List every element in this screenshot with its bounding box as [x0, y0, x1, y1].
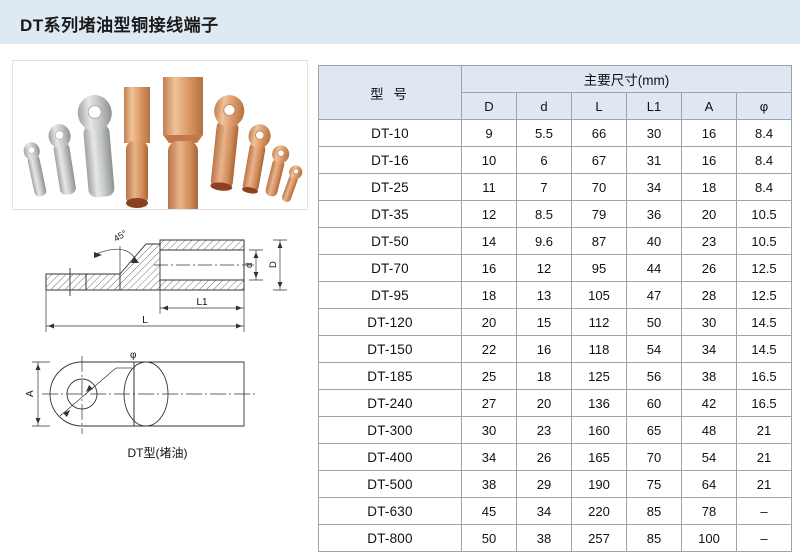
- table-row: DT-1202015112503014.5: [319, 309, 792, 336]
- lug-copper-flat-2: [163, 77, 203, 209]
- cell-L: 257: [572, 525, 627, 552]
- cell-D: 9: [462, 120, 517, 147]
- cell-L1: 85: [627, 498, 682, 525]
- cell-d: 15: [517, 309, 572, 336]
- cell-A: 48: [682, 417, 737, 444]
- cell-L1: 70: [627, 444, 682, 471]
- cell-phi: 10.5: [737, 228, 792, 255]
- cell-L: 67: [572, 147, 627, 174]
- cell-model: DT-10: [319, 120, 462, 147]
- cell-model: DT-150: [319, 336, 462, 363]
- header-col-L: L: [572, 93, 627, 120]
- cell-A: 20: [682, 201, 737, 228]
- table-row: DT-161066731168.4: [319, 147, 792, 174]
- lug-copper-flat-1: [124, 87, 150, 208]
- left-pane: 45° d D L1: [0, 44, 315, 512]
- cell-model: DT-400: [319, 444, 462, 471]
- table-row: DT-70161295442612.5: [319, 255, 792, 282]
- cell-D: 25: [462, 363, 517, 390]
- cell-d: 26: [517, 444, 572, 471]
- page-title-bar: DT系列堵油型铜接线端子: [0, 0, 800, 44]
- cell-model: DT-120: [319, 309, 462, 336]
- phi-label: φ: [130, 350, 137, 361]
- cell-D: 12: [462, 201, 517, 228]
- cell-D: 16: [462, 255, 517, 282]
- cell-L1: 65: [627, 417, 682, 444]
- header-col-D: D: [462, 93, 517, 120]
- cell-phi: 16.5: [737, 363, 792, 390]
- cell-D: 10: [462, 147, 517, 174]
- cell-A: 64: [682, 471, 737, 498]
- cell-d: 29: [517, 471, 572, 498]
- cell-phi: 12.5: [737, 255, 792, 282]
- cell-A: 18: [682, 174, 737, 201]
- cell-D: 20: [462, 309, 517, 336]
- cell-model: DT-16: [319, 147, 462, 174]
- cell-L: 95: [572, 255, 627, 282]
- header-col-L1: L1: [627, 93, 682, 120]
- cell-L: 112: [572, 309, 627, 336]
- cell-L: 118: [572, 336, 627, 363]
- cell-d: 16: [517, 336, 572, 363]
- cell-d: 34: [517, 498, 572, 525]
- cell-phi: 12.5: [737, 282, 792, 309]
- cell-d: 12: [517, 255, 572, 282]
- cell-L: 125: [572, 363, 627, 390]
- cell-L1: 75: [627, 471, 682, 498]
- cell-A: 54: [682, 444, 737, 471]
- cell-d: 9.6: [517, 228, 572, 255]
- cell-d: 8.5: [517, 201, 572, 228]
- cell-L1: 60: [627, 390, 682, 417]
- cell-L1: 50: [627, 309, 682, 336]
- cell-model: DT-500: [319, 471, 462, 498]
- cell-D: 27: [462, 390, 517, 417]
- cell-phi: 14.5: [737, 309, 792, 336]
- cell-D: 18: [462, 282, 517, 309]
- table-row: DT-951813105472812.5: [319, 282, 792, 309]
- table-row: DT-1502216118543414.5: [319, 336, 792, 363]
- table-row: DT-5003829190756421: [319, 471, 792, 498]
- cell-L1: 56: [627, 363, 682, 390]
- angle-label: 45°: [112, 228, 129, 244]
- cell-L: 70: [572, 174, 627, 201]
- spec-table-head: 型 号 主要尺寸(mm) D d L L1 A φ: [319, 66, 792, 120]
- dim-A-label: A: [25, 390, 36, 397]
- cell-L: 165: [572, 444, 627, 471]
- cell-L: 87: [572, 228, 627, 255]
- dim-L-label: L: [142, 315, 148, 326]
- header-col-A: A: [682, 93, 737, 120]
- dim-d-label: d: [244, 263, 255, 268]
- cell-A: 16: [682, 120, 737, 147]
- table-row: DT-1852518125563816.5: [319, 363, 792, 390]
- section-view-drawing: 45° d D L1: [8, 226, 308, 338]
- cell-model: DT-800: [319, 525, 462, 552]
- header-dimension-group: 主要尺寸(mm): [462, 66, 792, 93]
- spec-table-body: DT-1095.56630168.4DT-161066731168.4DT-25…: [319, 120, 792, 552]
- cell-A: 34: [682, 336, 737, 363]
- cell-L1: 44: [627, 255, 682, 282]
- cell-L: 79: [572, 201, 627, 228]
- header-row-top: 型 号 主要尺寸(mm): [319, 66, 792, 93]
- table-row: DT-63045342208578–: [319, 498, 792, 525]
- cell-L1: 30: [627, 120, 682, 147]
- product-photo-image: [13, 61, 307, 209]
- cell-model: DT-35: [319, 201, 462, 228]
- cell-D: 30: [462, 417, 517, 444]
- cell-L1: 54: [627, 336, 682, 363]
- cell-L: 105: [572, 282, 627, 309]
- cell-A: 42: [682, 390, 737, 417]
- table-row: DT-4003426165705421: [319, 444, 792, 471]
- cell-model: DT-300: [319, 417, 462, 444]
- cell-model: DT-25: [319, 174, 462, 201]
- cell-D: 38: [462, 471, 517, 498]
- table-row: DT-1095.56630168.4: [319, 120, 792, 147]
- cell-D: 50: [462, 525, 517, 552]
- cell-model: DT-50: [319, 228, 462, 255]
- cell-model: DT-240: [319, 390, 462, 417]
- cell-d: 6: [517, 147, 572, 174]
- cell-A: 100: [682, 525, 737, 552]
- table-row: DT-3003023160654821: [319, 417, 792, 444]
- cell-phi: 16.5: [737, 390, 792, 417]
- cell-d: 7: [517, 174, 572, 201]
- cell-model: DT-95: [319, 282, 462, 309]
- page-title: DT系列堵油型铜接线端子: [20, 11, 219, 36]
- cell-model: DT-630: [319, 498, 462, 525]
- cell-phi: 10.5: [737, 201, 792, 228]
- header-model: 型 号: [319, 66, 462, 120]
- cell-d: 5.5: [517, 120, 572, 147]
- cell-D: 34: [462, 444, 517, 471]
- dim-L1-label: L1: [196, 297, 208, 308]
- cell-L: 136: [572, 390, 627, 417]
- spec-table: 型 号 主要尺寸(mm) D d L L1 A φ DT-1095.566301…: [318, 65, 792, 552]
- cell-L1: 34: [627, 174, 682, 201]
- table-row: DT-2402720136604216.5: [319, 390, 792, 417]
- cell-phi: 8.4: [737, 120, 792, 147]
- drawing-caption: DT型(堵油): [0, 444, 315, 461]
- table-row: DT-251177034188.4: [319, 174, 792, 201]
- product-photo: [12, 60, 308, 210]
- cell-A: 78: [682, 498, 737, 525]
- cell-d: 20: [517, 390, 572, 417]
- table-row: DT-50149.687402310.5: [319, 228, 792, 255]
- cell-L1: 47: [627, 282, 682, 309]
- cell-model: DT-70: [319, 255, 462, 282]
- header-col-phi: φ: [737, 93, 792, 120]
- cell-D: 14: [462, 228, 517, 255]
- cell-d: 38: [517, 525, 572, 552]
- cell-L1: 85: [627, 525, 682, 552]
- cell-L: 66: [572, 120, 627, 147]
- cell-L: 190: [572, 471, 627, 498]
- cell-phi: 21: [737, 444, 792, 471]
- cell-d: 23: [517, 417, 572, 444]
- cell-A: 38: [682, 363, 737, 390]
- cell-A: 30: [682, 309, 737, 336]
- cell-A: 23: [682, 228, 737, 255]
- cell-phi: –: [737, 498, 792, 525]
- cell-D: 22: [462, 336, 517, 363]
- cell-L1: 40: [627, 228, 682, 255]
- cell-D: 11: [462, 174, 517, 201]
- table-row: DT-35128.579362010.5: [319, 201, 792, 228]
- cell-A: 16: [682, 147, 737, 174]
- dim-D-label: D: [268, 261, 279, 268]
- cell-d: 18: [517, 363, 572, 390]
- cell-phi: 21: [737, 417, 792, 444]
- cell-phi: 21: [737, 471, 792, 498]
- cell-phi: –: [737, 525, 792, 552]
- cell-phi: 8.4: [737, 147, 792, 174]
- cell-D: 45: [462, 498, 517, 525]
- cell-L: 220: [572, 498, 627, 525]
- cell-L1: 31: [627, 147, 682, 174]
- cell-model: DT-185: [319, 363, 462, 390]
- cell-L: 160: [572, 417, 627, 444]
- cell-A: 26: [682, 255, 737, 282]
- header-col-d: d: [517, 93, 572, 120]
- cell-A: 28: [682, 282, 737, 309]
- spec-table-container: 型 号 主要尺寸(mm) D d L L1 A φ DT-1095.566301…: [318, 65, 792, 552]
- cell-d: 13: [517, 282, 572, 309]
- table-row: DT-800503825785100–: [319, 525, 792, 552]
- cell-phi: 14.5: [737, 336, 792, 363]
- cell-phi: 8.4: [737, 174, 792, 201]
- cell-L1: 36: [627, 201, 682, 228]
